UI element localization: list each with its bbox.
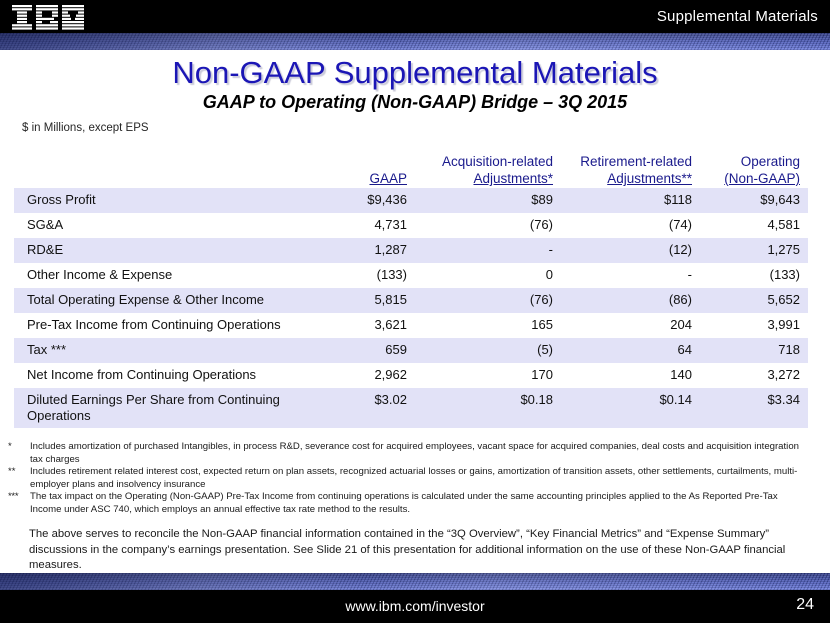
row-value-gaap: 2,962 — [257, 367, 407, 383]
column-header-operating: Operating (Non-GAAP) — [660, 153, 800, 187]
row-value-gaap: $3.02 — [257, 392, 407, 408]
row-value-operating: 1,275 — [680, 242, 800, 258]
row-value-acquisition: 0 — [413, 267, 553, 283]
footer-accent-band-shade — [0, 573, 830, 590]
column-header-acquisition-line2: Adjustments* — [393, 170, 553, 187]
row-value-retirement: $0.14 — [557, 392, 692, 408]
table-row: Gross Profit $9,436 $89 $118 $9,643 — [14, 188, 808, 213]
top-bar: Supplemental Materials — [0, 0, 830, 33]
row-value-operating: $9,643 — [680, 192, 800, 208]
units-note: $ in Millions, except EPS — [22, 122, 149, 134]
slide-title: Non-GAAP Supplemental Materials — [0, 55, 830, 91]
footnote-item: ** Includes retirement related interest … — [8, 466, 808, 491]
row-value-operating: 3,991 — [680, 317, 800, 333]
footnote-text: Includes retirement related interest cos… — [30, 466, 797, 490]
row-value-acquisition: $89 — [413, 192, 553, 208]
footnote-marker: ** — [8, 466, 28, 479]
row-value-retirement: - — [557, 267, 692, 283]
deck-section-label: Supplemental Materials — [657, 8, 818, 25]
slide-subtitle: GAAP to Operating (Non-GAAP) Bridge – 3Q… — [0, 92, 830, 113]
row-value-gaap: 1,287 — [257, 242, 407, 258]
column-header-operating-line2: (Non-GAAP) — [660, 170, 800, 187]
row-value-retirement: 140 — [557, 367, 692, 383]
footer-bar: www.ibm.com/investor 24 — [0, 590, 830, 623]
footnote-marker: *** — [8, 491, 28, 504]
column-header-acquisition-line1: Acquisition-related — [393, 153, 553, 170]
row-value-operating: 718 — [680, 342, 800, 358]
row-value-gaap: $9,436 — [257, 192, 407, 208]
row-value-acquisition: 170 — [413, 367, 553, 383]
ibm-logo-icon — [12, 5, 84, 30]
reconciliation-note: The above serves to reconcile the Non-GA… — [29, 527, 793, 574]
row-value-operating: (133) — [680, 267, 800, 283]
row-value-acquisition: - — [413, 242, 553, 258]
row-value-acquisition: 165 — [413, 317, 553, 333]
footnote-item: *** The tax impact on the Operating (Non… — [8, 491, 808, 516]
table-row: Tax *** 659 (5) 64 718 — [14, 338, 808, 363]
row-value-gaap: 4,731 — [257, 217, 407, 233]
footnote-marker: * — [8, 441, 28, 454]
row-value-retirement: 64 — [557, 342, 692, 358]
gaap-bridge-table: Gross Profit $9,436 $89 $118 $9,643 SG&A… — [14, 188, 808, 428]
row-value-retirement: $118 — [557, 192, 692, 208]
column-header-gaap: GAAP — [257, 170, 407, 187]
slide: Supplemental Materials Non-GAAP Suppleme… — [0, 0, 830, 623]
investor-site-link[interactable]: www.ibm.com/investor — [0, 598, 830, 614]
footnotes: * Includes amortization of purchased Int… — [8, 441, 808, 517]
column-header-acquisition-adjustments: Acquisition-related Adjustments* — [393, 153, 553, 187]
footnote-text: The tax impact on the Operating (Non-GAA… — [30, 491, 778, 515]
row-value-acquisition: $0.18 — [413, 392, 553, 408]
footnote-text: Includes amortization of purchased Intan… — [30, 441, 799, 465]
row-value-gaap: 3,621 — [257, 317, 407, 333]
table-row: Pre-Tax Income from Continuing Operation… — [14, 313, 808, 338]
row-value-acquisition: (76) — [413, 292, 553, 308]
row-value-retirement: (86) — [557, 292, 692, 308]
row-value-retirement: (74) — [557, 217, 692, 233]
row-value-acquisition: (76) — [413, 217, 553, 233]
header-accent-band-shade — [0, 33, 830, 50]
row-value-gaap: 5,815 — [257, 292, 407, 308]
table-row: Net Income from Continuing Operations 2,… — [14, 363, 808, 388]
row-value-gaap: 659 — [257, 342, 407, 358]
column-header-operating-line1: Operating — [660, 153, 800, 170]
footnote-item: * Includes amortization of purchased Int… — [8, 441, 808, 466]
table-row: Diluted Earnings Per Share from Continui… — [14, 388, 808, 428]
row-value-acquisition: (5) — [413, 342, 553, 358]
row-value-operating: 5,652 — [680, 292, 800, 308]
row-value-operating: 3,272 — [680, 367, 800, 383]
row-value-retirement: (12) — [557, 242, 692, 258]
row-value-gaap: (133) — [257, 267, 407, 283]
table-row: RD&E 1,287 - (12) 1,275 — [14, 238, 808, 263]
column-header-gaap-line2: GAAP — [257, 170, 407, 187]
table-row: Total Operating Expense & Other Income 5… — [14, 288, 808, 313]
table-column-headers: GAAP Acquisition-related Adjustments* Re… — [14, 147, 808, 187]
row-value-retirement: 204 — [557, 317, 692, 333]
table-row: SG&A 4,731 (76) (74) 4,581 — [14, 213, 808, 238]
row-value-operating: $3.34 — [680, 392, 800, 408]
table-row: Other Income & Expense (133) 0 - (133) — [14, 263, 808, 288]
page-number: 24 — [796, 596, 814, 614]
row-value-operating: 4,581 — [680, 217, 800, 233]
